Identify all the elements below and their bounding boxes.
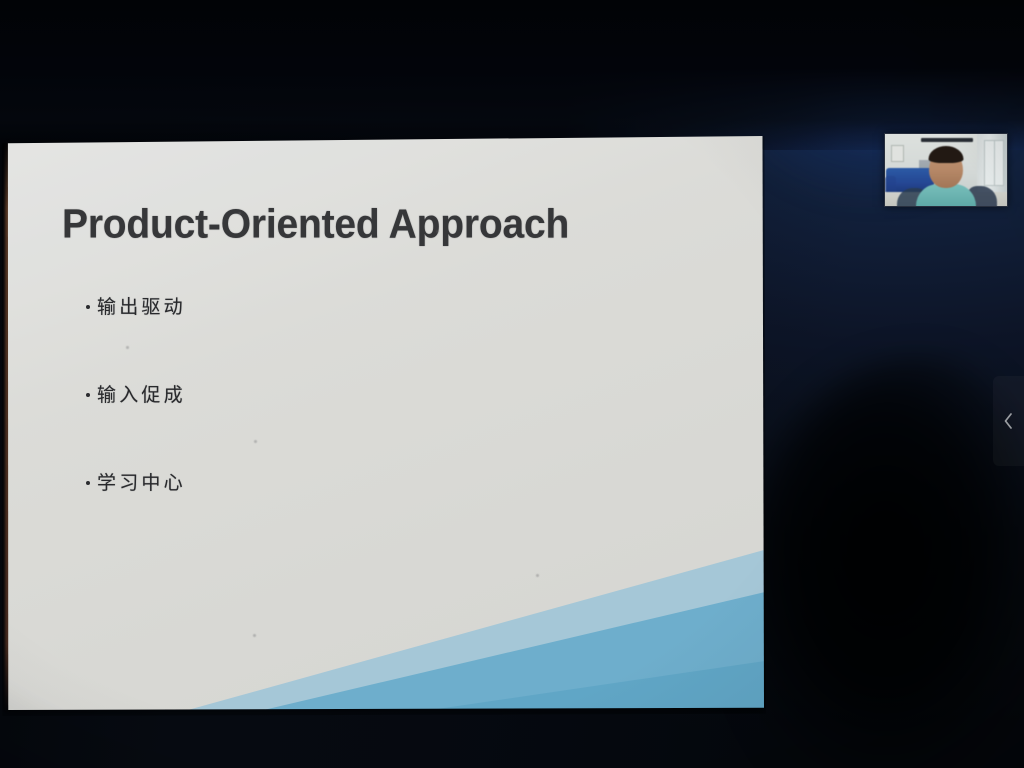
presentation-slide[interactable]: Product-Oriented Approach 输出驱动 输入促成 学习中心 xyxy=(6,134,764,710)
background-top-dark xyxy=(0,0,1024,150)
self-view-thumbnail[interactable] xyxy=(884,133,1008,207)
collapse-panel-button[interactable] xyxy=(993,376,1024,466)
slide-surface: Product-Oriented Approach 输出驱动 输入促成 学习中心 xyxy=(6,134,764,710)
screen-share-view: Product-Oriented Approach 输出驱动 输入促成 学习中心 xyxy=(0,0,1024,768)
slide-vignette xyxy=(6,134,764,710)
chevron-left-icon xyxy=(1002,411,1015,431)
webcam-softness xyxy=(885,134,1007,206)
